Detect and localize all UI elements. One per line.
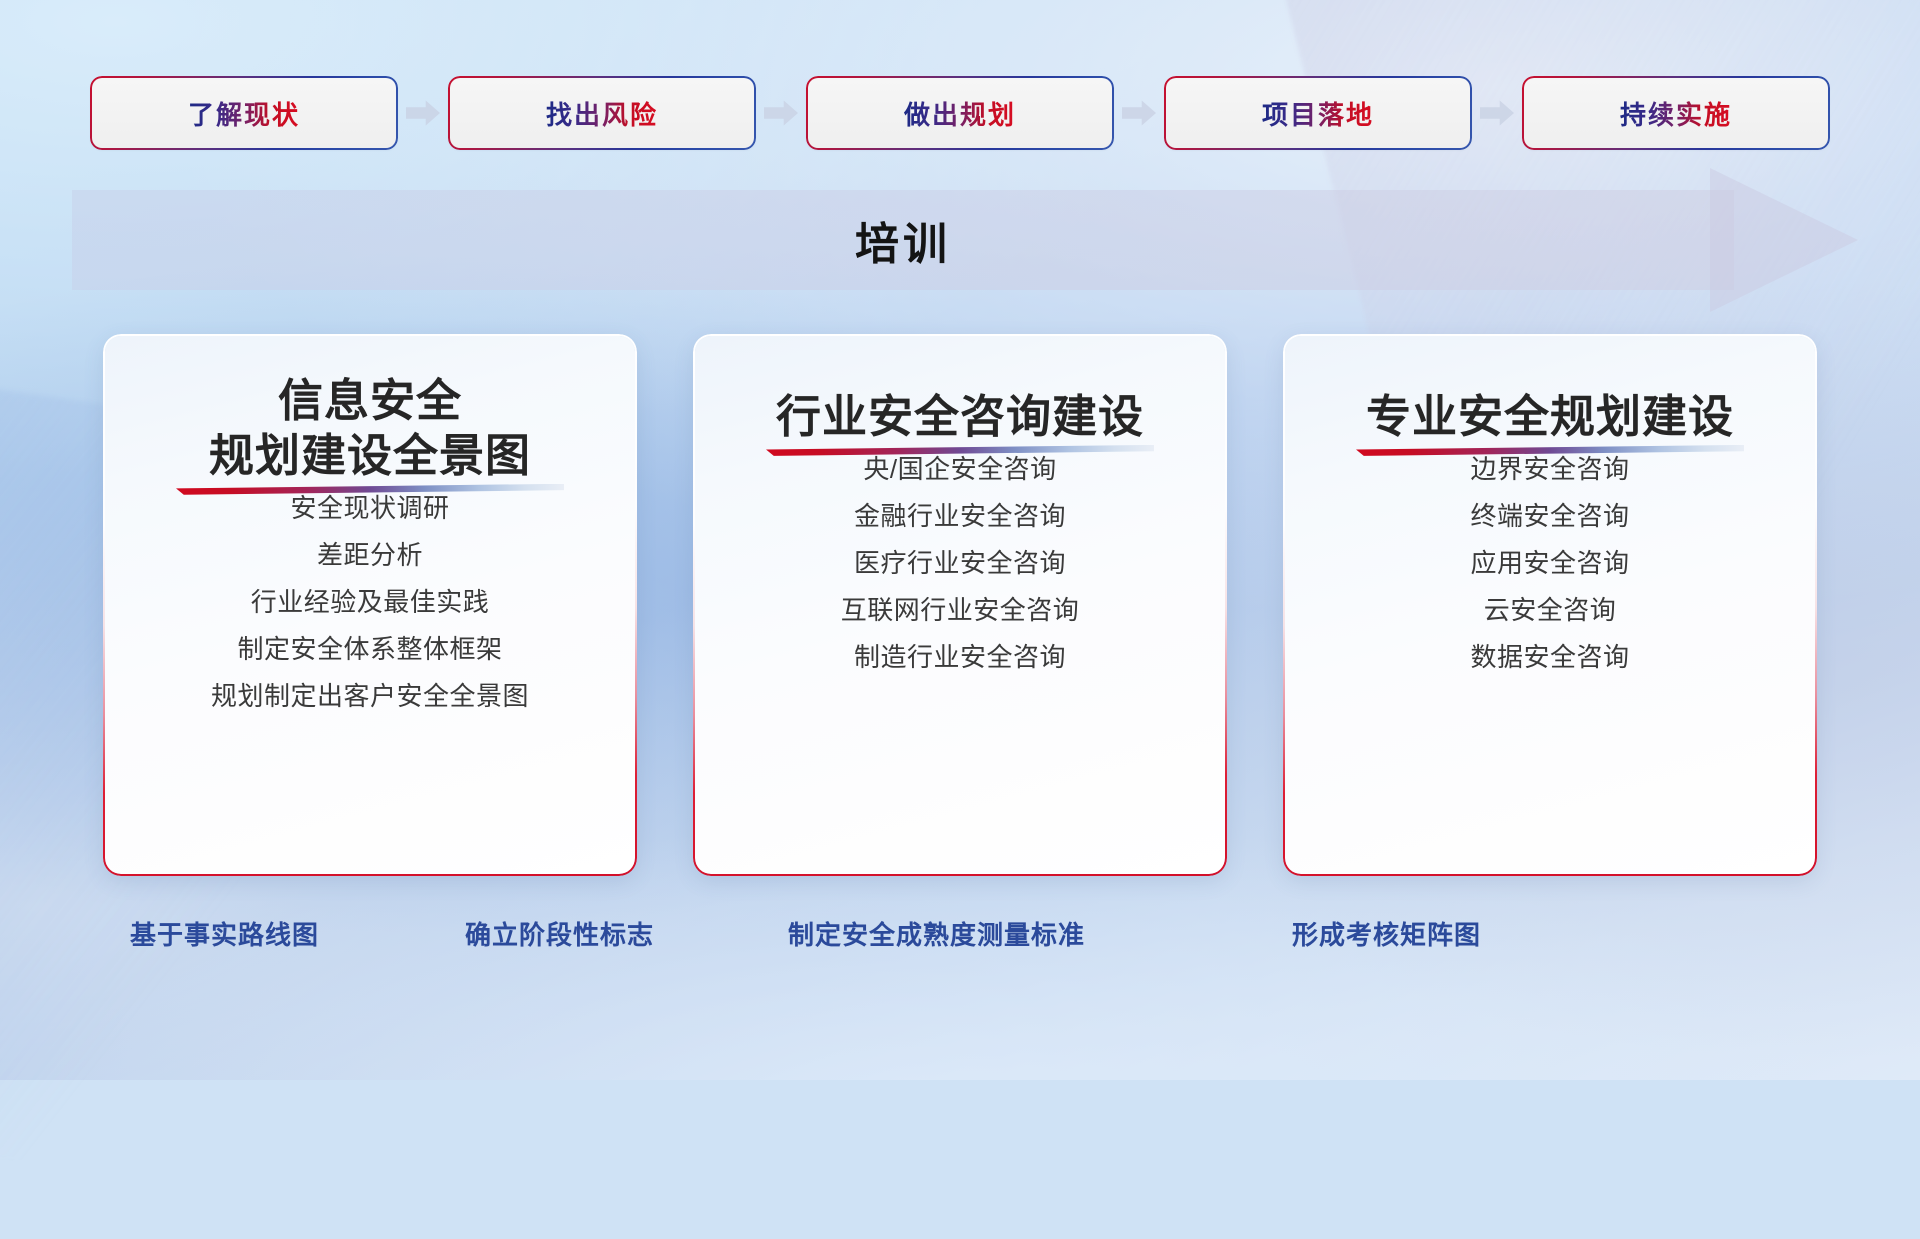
arrow-right-icon-4 bbox=[1470, 78, 1524, 148]
list-item: 制造行业安全咨询 bbox=[695, 644, 1225, 670]
list-item: 互联网行业安全咨询 bbox=[695, 597, 1225, 623]
list-item: 医疗行业安全咨询 bbox=[695, 550, 1225, 576]
arrow-right-icon-2 bbox=[754, 78, 808, 148]
step-label-2: 找出风险 bbox=[546, 95, 658, 132]
card-1[interactable]: 信息安全 规划建设全景图 安全现状调研 差距分析 行业经验及最佳实践 制定安全体… bbox=[105, 336, 635, 874]
footer-tag-1: 基于事实路线图 bbox=[130, 915, 319, 952]
banner-title: 培训 bbox=[72, 190, 1734, 290]
process-step-row: 了解现状 找出风险 做出规划 项目落地 持续实施 bbox=[0, 76, 1920, 150]
footer-tag-row: 基于事实路线图 确立阶段性标志 制定安全成熟度测量标准 形成考核矩阵图 bbox=[0, 915, 1920, 963]
card-1-list: 安全现状调研 差距分析 行业经验及最佳实践 制定安全体系整体框架 规划制定出客户… bbox=[105, 495, 635, 709]
card-2-title: 行业安全咨询建设 bbox=[695, 336, 1225, 445]
list-item: 制定安全体系整体框架 bbox=[105, 636, 635, 662]
step-box-5[interactable]: 持续实施 bbox=[1524, 78, 1828, 148]
step-label-4: 项目落地 bbox=[1262, 95, 1374, 132]
arrow-right-icon-3 bbox=[1112, 78, 1166, 148]
list-item: 安全现状调研 bbox=[105, 495, 635, 521]
step-box-3[interactable]: 做出规划 bbox=[808, 78, 1112, 148]
card-3-list: 边界安全咨询 终端安全咨询 应用安全咨询 云安全咨询 数据安全咨询 bbox=[1285, 456, 1815, 670]
card-2-list: 央/国企安全咨询 金融行业安全咨询 医疗行业安全咨询 互联网行业安全咨询 制造行… bbox=[695, 456, 1225, 670]
step-box-4[interactable]: 项目落地 bbox=[1166, 78, 1470, 148]
card-3[interactable]: 专业安全规划建设 边界安全咨询 终端安全咨询 应用安全咨询 云安全咨询 数据安全… bbox=[1285, 336, 1815, 874]
card-1-title: 信息安全 规划建设全景图 bbox=[105, 336, 635, 484]
list-item: 规划制定出客户安全全景图 bbox=[105, 683, 635, 709]
card-row: 信息安全 规划建设全景图 安全现状调研 差距分析 行业经验及最佳实践 制定安全体… bbox=[0, 336, 1920, 876]
list-item: 云安全咨询 bbox=[1285, 597, 1815, 623]
list-item: 终端安全咨询 bbox=[1285, 503, 1815, 529]
arrow-right-icon-1 bbox=[396, 78, 450, 148]
list-item: 数据安全咨询 bbox=[1285, 644, 1815, 670]
footer-tag-4: 形成考核矩阵图 bbox=[1292, 915, 1481, 952]
footer-tag-3: 制定安全成熟度测量标准 bbox=[788, 915, 1085, 952]
step-label-1: 了解现状 bbox=[188, 95, 300, 132]
step-label-3: 做出规划 bbox=[904, 95, 1016, 132]
step-box-2[interactable]: 找出风险 bbox=[450, 78, 754, 148]
card-1-title-line-2: 规划建设全景图 bbox=[209, 430, 531, 481]
card-3-title: 专业安全规划建设 bbox=[1285, 336, 1815, 445]
card-1-title-line-1: 信息安全 bbox=[278, 375, 462, 426]
card-2[interactable]: 行业安全咨询建设 央/国企安全咨询 金融行业安全咨询 医疗行业安全咨询 互联网行… bbox=[695, 336, 1225, 874]
footer-tag-2: 确立阶段性标志 bbox=[465, 915, 654, 952]
list-item: 金融行业安全咨询 bbox=[695, 503, 1225, 529]
training-banner: 培训 bbox=[72, 190, 1848, 290]
step-box-1[interactable]: 了解现状 bbox=[92, 78, 396, 148]
step-label-5: 持续实施 bbox=[1620, 95, 1732, 132]
list-item: 差距分析 bbox=[105, 542, 635, 568]
list-item: 行业经验及最佳实践 bbox=[105, 589, 635, 615]
list-item: 应用安全咨询 bbox=[1285, 550, 1815, 576]
list-item: 央/国企安全咨询 bbox=[695, 456, 1225, 482]
list-item: 边界安全咨询 bbox=[1285, 456, 1815, 482]
